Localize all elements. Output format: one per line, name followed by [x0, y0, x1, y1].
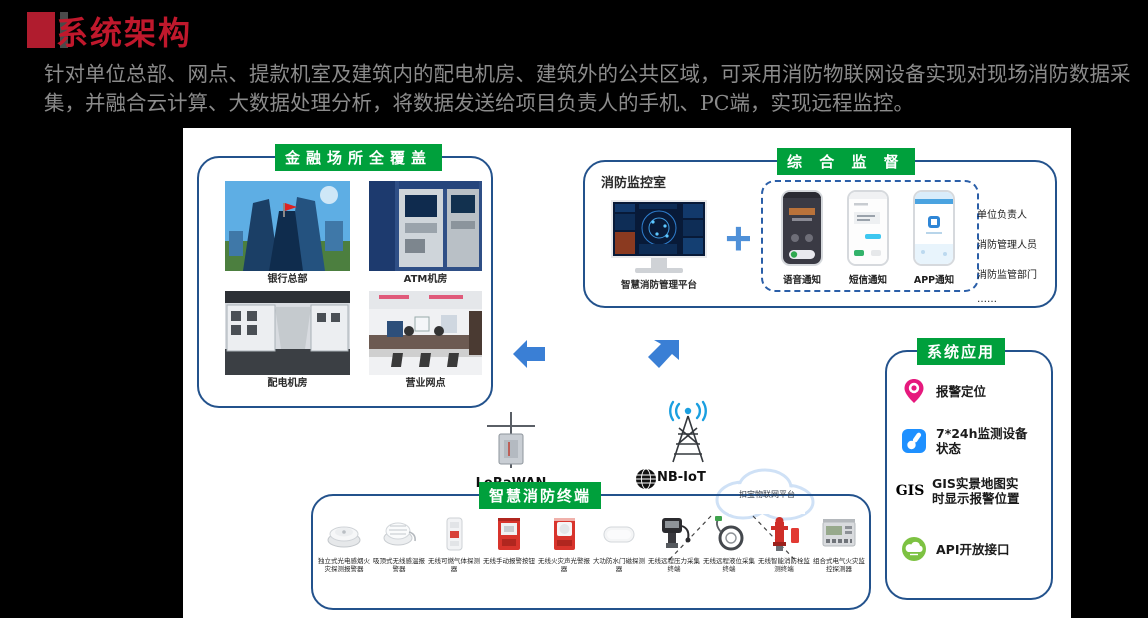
platform-caption: 智慧消防管理平台: [597, 280, 721, 291]
device-5: 大功防水门磁探测器: [592, 514, 646, 573]
monitor-stand-base: [635, 268, 683, 273]
sms-phone: [847, 190, 889, 266]
lorawan-gateway-icon: [479, 406, 543, 478]
gis-text-icon: GIS: [897, 478, 923, 504]
arrow-up-right-icon: [643, 336, 683, 372]
intro-paragraph: 针对单位总部、网点、提款机室及建筑内的配电机房、建筑外的公共区域，可采用消防物联…: [44, 60, 1144, 118]
fire-sounder-icon: [544, 514, 584, 554]
page-header: 系统架构 针对单位总部、网点、提款机室及建筑内的配电机房、建筑外的公共区域，可采…: [0, 0, 1148, 128]
sys-app-label-3: API开放接口: [936, 542, 1032, 557]
device-0: 独立式光电感烟火灾探测报警器: [317, 514, 371, 573]
waterproof-door-sensor-icon: [599, 514, 639, 554]
device-3: 无线手动报警按钮: [482, 514, 536, 565]
title-marker-block: [27, 12, 55, 48]
sys-app-item-3: API开放接口: [901, 536, 1051, 562]
sys-app-label-1: 7*24h监测设备状态: [936, 426, 1032, 456]
recipient-2: 消防监管部门: [977, 266, 1037, 281]
plus-icon: +: [725, 218, 752, 258]
nbiot-tower-icon: [653, 400, 723, 478]
api-cloud-icon: [901, 536, 927, 562]
device-label-1: 吸顶式无线感温报警器: [372, 557, 426, 573]
cloud-platform-label: 扣宝物联网平台: [713, 489, 821, 500]
sys-app-label-0: 报警定位: [936, 384, 1032, 399]
supervision-panel-chip: 综 合 监 督: [777, 148, 915, 175]
diagram-canvas: 金融场所全覆盖 银行总部 ATM机房: [183, 128, 1071, 618]
sms-label: 短信通知: [837, 272, 899, 286]
ceiling-heat-alarm-icon: [379, 514, 419, 554]
device-6: 无线远程压力采集终端: [647, 514, 701, 573]
device-status-thermometer-icon: [901, 428, 927, 454]
device-label-7: 无线远程液位采集终端: [702, 557, 756, 573]
gas-detector-icon: [434, 514, 474, 554]
device-1: 吸顶式无线感温报警器: [372, 514, 426, 573]
sys-app-label-2: GIS实景地图实时显示报警位置: [932, 476, 1028, 506]
pressure-sensor-icon: [654, 514, 694, 554]
sys-app-panel-chip: 系统应用: [917, 338, 1005, 365]
control-room-title: 消防监控室: [601, 178, 721, 189]
photo-caption-power-room: 配电机房: [225, 378, 350, 389]
electrical-monitor-icon: [819, 514, 859, 554]
recipient-0: 单位负责人: [977, 206, 1027, 221]
app-label: APP通知: [903, 272, 965, 286]
sys-app-item-2: GIS GIS实景地图实时显示报警位置: [897, 476, 1051, 506]
device-2: 无线可燃气体探测器: [427, 514, 481, 573]
sys-app-item-0: 报警定位: [901, 378, 1051, 404]
photo-caption-bank-headquarters: 银行总部: [225, 274, 350, 285]
photo-caption-branch-office: 营业网点: [369, 378, 482, 389]
nbiot-globe-icon: [635, 468, 657, 490]
device-7: 无线远程液位采集终端: [702, 514, 756, 573]
page-title: 系统架构: [56, 8, 192, 54]
device-label-2: 无线可燃气体探测器: [427, 557, 481, 573]
device-label-9: 组合式电气火灾监控探测器: [812, 557, 866, 573]
device-label-5: 大功防水门磁探测器: [592, 557, 646, 573]
voice-call-phone: [781, 190, 823, 266]
manual-call-point-icon: [489, 514, 529, 554]
recipient-3: ……: [977, 294, 997, 305]
smoke-detector-icon: [324, 514, 364, 554]
smart-hydrant-icon: [764, 514, 804, 554]
arrow-left-icon: [509, 336, 549, 372]
photo-bank-headquarters: [225, 181, 350, 271]
photo-power-room: [225, 291, 350, 375]
device-label-8: 无线智能消防栓监测终端: [757, 557, 811, 573]
device-8: 无线智能消防栓监测终端: [757, 514, 811, 573]
recipient-1: 消防管理人员: [977, 236, 1037, 251]
photo-caption-atm-room: ATM机房: [369, 274, 482, 285]
device-9: 组合式电气火灾监控探测器: [812, 514, 866, 573]
monitor-stand-neck: [651, 258, 667, 268]
app-phone: [913, 190, 955, 266]
terminals-panel-chip: 智慧消防终端: [479, 482, 601, 509]
device-4: 无线火灾声光警报器: [537, 514, 591, 573]
nbiot-label: NB-IoT: [657, 472, 717, 483]
photo-branch-office: [369, 291, 482, 375]
voice-call-label: 语音通知: [771, 272, 833, 286]
device-label-3: 无线手动报警按钮: [482, 557, 536, 565]
device-label-4: 无线火灾声光警报器: [537, 557, 591, 573]
platform-monitor-screen: [611, 200, 707, 258]
device-label-0: 独立式光电感烟火灾探测报警器: [317, 557, 371, 573]
alarm-location-pin-icon: [901, 378, 927, 404]
photo-atm-room: [369, 181, 482, 271]
places-panel-chip: 金融场所全覆盖: [275, 144, 442, 171]
sys-app-item-1: 7*24h监测设备状态: [901, 426, 1051, 456]
device-label-6: 无线远程压力采集终端: [647, 557, 701, 573]
level-sensor-icon: [709, 514, 749, 554]
